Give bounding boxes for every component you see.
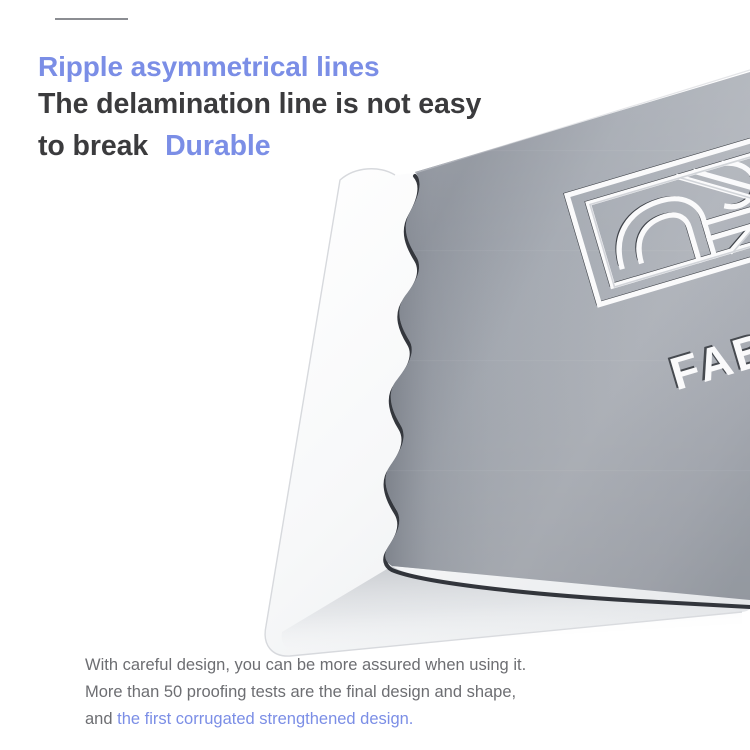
bottom-copy-line-1: With careful design, you can be more ass… (85, 652, 725, 679)
product-feature-page: FAB FAB Ripple asymmetrical lines The de… (0, 0, 750, 750)
headline-accent-line: Ripple asymmetrical lines (38, 50, 568, 83)
bottom-copy-block: With careful design, you can be more ass… (85, 652, 725, 733)
headline-block: Ripple asymmetrical lines The delaminati… (38, 50, 568, 167)
bottom-copy-line-2: More than 50 proofing tests are the fina… (85, 679, 725, 706)
bottom-copy-line-3-prefix: and (85, 710, 117, 728)
bottom-copy-line-3-link: the first corrugated strengthened design… (117, 710, 413, 728)
headline-main-line-2: to break (38, 125, 148, 167)
headline-main-line-1: The delamination line is not easy (38, 83, 568, 125)
headline-main-line-2-row: to break Durable (38, 125, 568, 167)
bottom-copy-line-3: and the first corrugated strengthened de… (85, 706, 725, 733)
headline-highlight-word: Durable (165, 125, 270, 167)
